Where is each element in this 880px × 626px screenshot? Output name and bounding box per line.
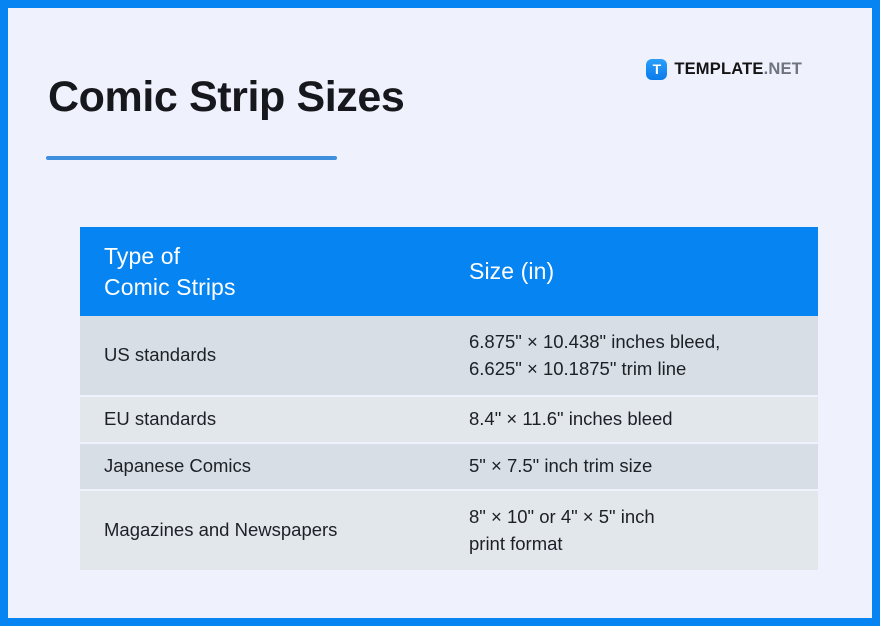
logo-letter: T [653,62,661,76]
brand-wordmark: TEMPLATE.NET [674,61,802,78]
cell-type: Japanese Comics [80,453,448,479]
cell-type: Magazines and Newspapers [80,517,448,543]
brand-name: TEMPLATE [674,60,763,78]
cell-size: 8.4" × 11.6" inches bleed [448,406,818,432]
column-header-size: Size (in) [448,256,818,286]
table-row: EU standards 8.4" × 11.6" inches bleed [80,397,818,444]
table-row: Magazines and Newspapers 8" × 10" or 4" … [80,491,818,572]
brand-tld: .NET [764,60,802,78]
template-net-logo-icon: T [646,59,667,80]
column-header-type: Type of Comic Strips [80,241,448,302]
slide-canvas: T TEMPLATE.NET Comic Strip Sizes Type of… [8,8,872,618]
title-underline-rule [46,156,337,160]
cell-type: US standards [80,342,448,368]
table-header-row: Type of Comic Strips Size (in) [80,227,818,316]
table-row: US standards 6.875" × 10.438" inches ble… [80,316,818,397]
cell-size: 5" × 7.5" inch trim size [448,453,818,479]
cell-size: 8" × 10" or 4" × 5" inch print format [448,504,818,557]
brand-logo: T TEMPLATE.NET [646,58,802,80]
cell-size: 6.875" × 10.438" inches bleed, 6.625" × … [448,329,818,382]
cell-type: EU standards [80,406,448,432]
comic-strip-sizes-table: Type of Comic Strips Size (in) US standa… [80,227,818,572]
table-row: Japanese Comics 5" × 7.5" inch trim size [80,444,818,491]
page-title: Comic Strip Sizes [48,73,404,121]
